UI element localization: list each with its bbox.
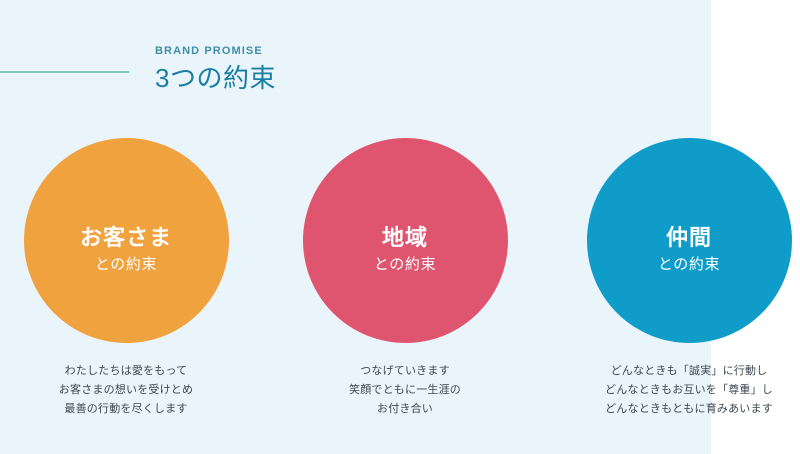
caption-line: わたしたちは愛をもって	[11, 362, 241, 381]
promise-circle-colleagues: 仲間 との約束	[587, 138, 792, 343]
promise-column-customer: お客さま との約束 わたしたちは愛をもって お客さまの想いを受けとめ 最善の行動…	[11, 138, 241, 419]
header-rule-divider	[0, 71, 129, 73]
slide-header: BRAND PROMISE 3つの約束	[155, 44, 575, 94]
promise-column-community: 地域 との約束 つなげていきます 笑顔でともに一生涯の お付き合い	[290, 138, 520, 419]
promise-circle-community: 地域 との約束	[303, 138, 508, 343]
promise-caption-colleagues: どんなときも「誠実」に行動し どんなときもお互いを「尊重」し どんなときもともに…	[574, 362, 800, 419]
caption-line: 笑顔でともに一生涯の	[290, 381, 520, 400]
caption-line: お客さまの想いを受けとめ	[11, 381, 241, 400]
caption-line: つなげていきます	[290, 362, 520, 381]
promise-caption-community: つなげていきます 笑顔でともに一生涯の お付き合い	[290, 362, 520, 419]
page-title: 3つの約束	[155, 62, 575, 94]
caption-line: どんなときもお互いを「尊重」し	[574, 381, 800, 400]
promise-circle-subtitle: との約束	[658, 255, 720, 275]
promise-columns: お客さま との約束 わたしたちは愛をもって お客さまの想いを受けとめ 最善の行動…	[0, 138, 800, 438]
caption-line: お付き合い	[290, 400, 520, 419]
caption-line: 最善の行動を尽くします	[11, 400, 241, 419]
caption-line: どんなときもともに育みあいます	[574, 400, 800, 419]
slide-canvas: BRAND PROMISE 3つの約束 お客さま との約束 わたしたちは愛をもっ…	[0, 0, 800, 454]
promise-circle-subtitle: との約束	[374, 255, 436, 275]
promise-circle-title: 仲間	[666, 225, 712, 251]
caption-line: どんなときも「誠実」に行動し	[574, 362, 800, 381]
promise-column-colleagues: 仲間 との約束 どんなときも「誠実」に行動し どんなときもお互いを「尊重」し ど…	[574, 138, 800, 419]
promise-circle-subtitle: との約束	[95, 255, 157, 275]
header-eyebrow-label: BRAND PROMISE	[155, 44, 575, 58]
promise-circle-customer: お客さま との約束	[24, 138, 229, 343]
promise-circle-title: お客さま	[80, 225, 172, 251]
promise-circle-title: 地域	[382, 225, 428, 251]
promise-caption-customer: わたしたちは愛をもって お客さまの想いを受けとめ 最善の行動を尽くします	[11, 362, 241, 419]
